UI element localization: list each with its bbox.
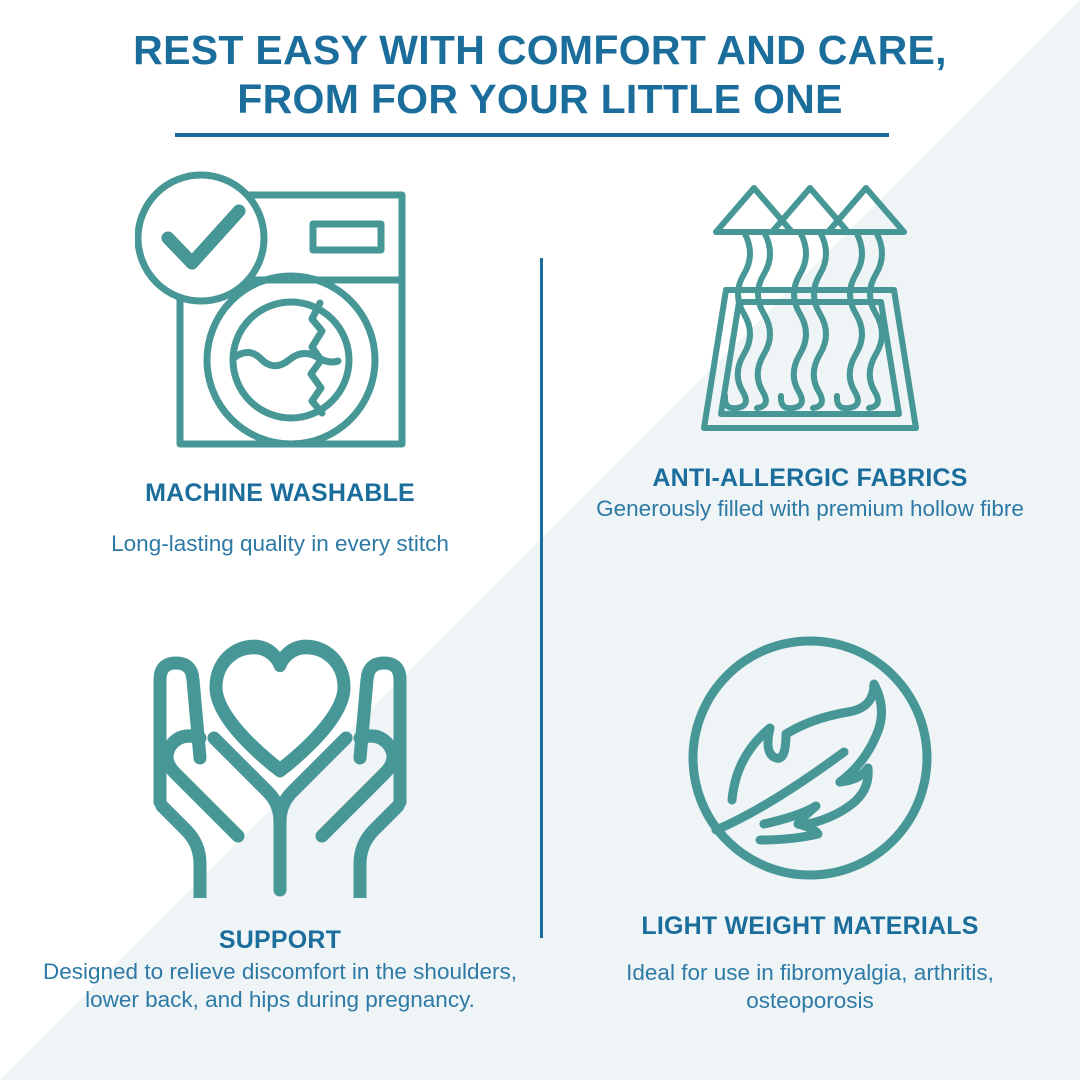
breathable-fabric-arrows-icon bbox=[680, 180, 940, 448]
washing-machine-check-icon bbox=[135, 168, 425, 453]
feature-title: Light Weight Materials bbox=[570, 912, 1050, 941]
title-underline-divider bbox=[175, 133, 889, 137]
feature-description: Generously filled with premium hollow fi… bbox=[570, 495, 1050, 523]
hands-holding-heart-icon bbox=[142, 632, 418, 898]
infographic-page: Rest Easy with Comfort and Care, From Fo… bbox=[0, 0, 1080, 1080]
feature-machine-washable: Machine Washable Long-lasting quality in… bbox=[40, 168, 520, 558]
feature-description: Long-lasting quality in every stitch bbox=[40, 530, 520, 558]
vertical-column-divider bbox=[540, 258, 543, 938]
feature-anti-allergic-fabrics: Anti-Allergic Fabrics Generously filled … bbox=[570, 180, 1050, 523]
feather-in-circle-icon bbox=[686, 634, 934, 882]
feature-description: Designed to relieve discomfort in the sh… bbox=[40, 958, 520, 1014]
page-title: Rest Easy with Comfort and Care, From Fo… bbox=[0, 26, 1080, 124]
feature-title: Machine Washable bbox=[40, 479, 520, 508]
feature-light-weight-materials: Light Weight Materials Ideal for use in … bbox=[570, 634, 1050, 1015]
feature-title: Support bbox=[40, 926, 520, 955]
page-title-line-1: Rest Easy with Comfort and Care, bbox=[0, 26, 1080, 75]
feature-support: Support Designed to relieve discomfort i… bbox=[40, 632, 520, 1014]
feature-title: Anti-Allergic Fabrics bbox=[570, 464, 1050, 493]
page-title-line-2: From For Your Little One bbox=[0, 75, 1080, 124]
feature-description: Ideal for use in fibromyalgia, arthritis… bbox=[570, 959, 1050, 1015]
